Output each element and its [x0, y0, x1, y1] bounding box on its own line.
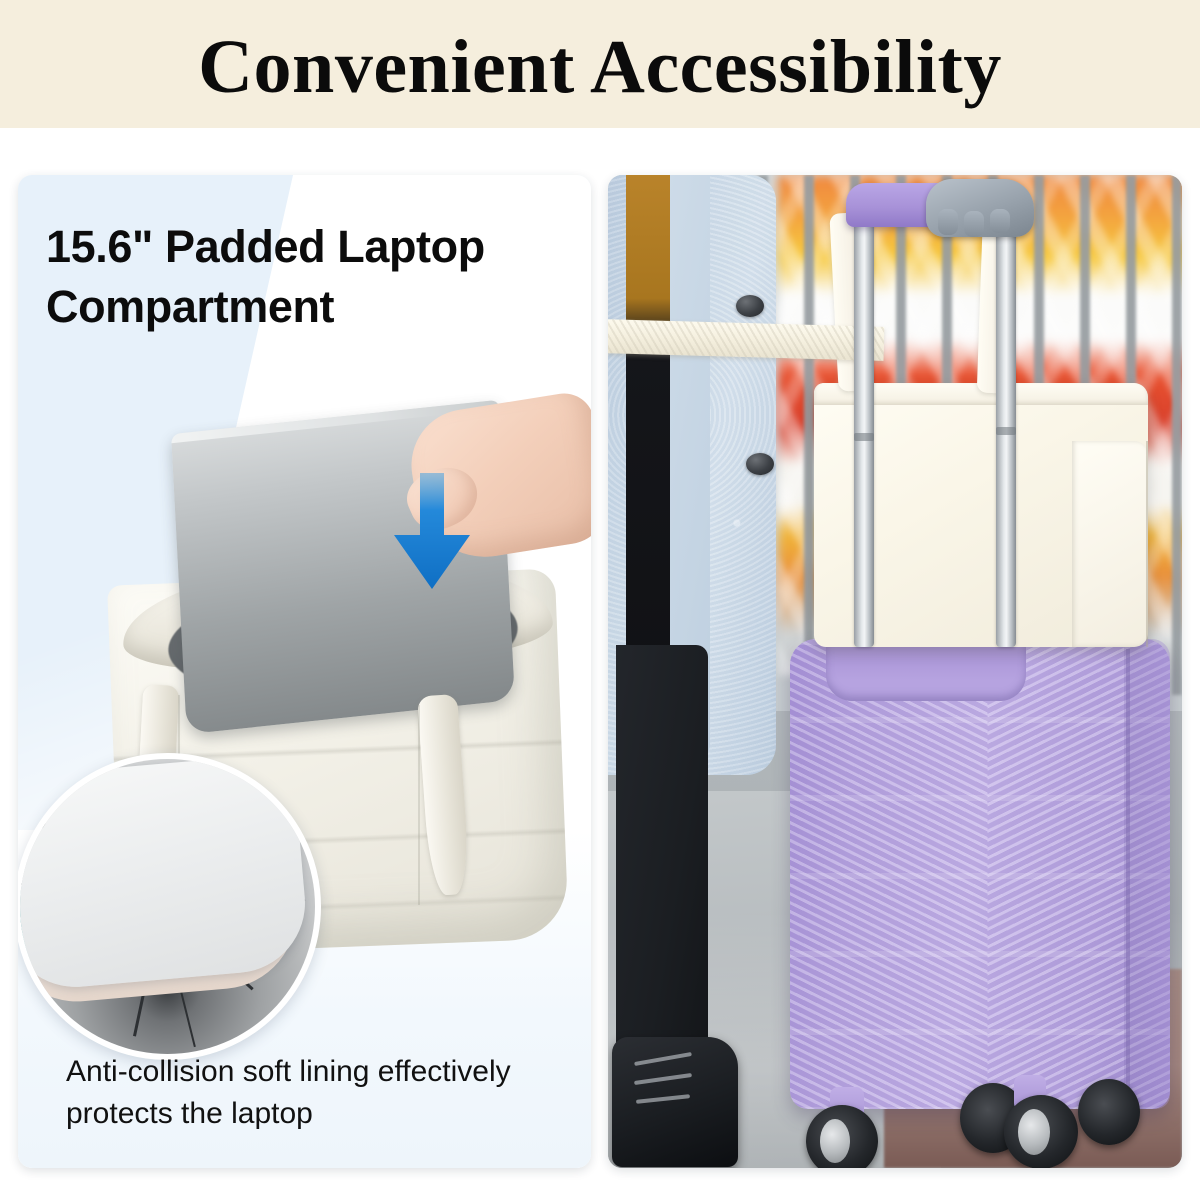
- gloved-hand: [926, 179, 1034, 237]
- tote-side-pocket-seam: [1146, 441, 1148, 647]
- street-scene-photo: [608, 175, 1182, 1168]
- suitcase-side-panel: [1124, 639, 1170, 1109]
- anti-collision-inset-photo: [18, 753, 321, 1060]
- telescoping-bar-right: [996, 203, 1016, 647]
- laptop-corner: [18, 753, 311, 993]
- telescoping-bar-left: [854, 203, 874, 647]
- tote-side-pocket: [1072, 441, 1148, 647]
- spinner-wheel-left: [806, 1105, 878, 1168]
- spinner-wheel-right: [1004, 1095, 1078, 1168]
- spinner-wheel-far-right: [1078, 1079, 1140, 1145]
- wheel-hub-right: [1018, 1109, 1050, 1155]
- coat-button-upper: [736, 295, 764, 317]
- boot: [612, 1037, 738, 1167]
- arrow-down-icon: [390, 473, 474, 591]
- trolley-sleeve-panel: [608, 175, 1182, 1168]
- page-title: Convenient Accessibility: [0, 0, 1200, 128]
- left-panel-heading: 15.6" Padded Laptop Compartment: [46, 217, 546, 337]
- suitcase-horizontal-bands: [790, 639, 1170, 1109]
- wheel-hub-left: [820, 1119, 850, 1163]
- left-panel-caption: Anti-collision soft lining effectively p…: [66, 1051, 536, 1136]
- suitcase-zipper: [1126, 649, 1130, 1091]
- hardshell-suitcase: [790, 639, 1170, 1109]
- telescoping-joint-left: [854, 433, 874, 441]
- laptop-compartment-panel: 15.6" Padded Laptop Compartment: [18, 175, 591, 1168]
- content-stage: 15.6" Padded Laptop Compartment: [0, 128, 1200, 1200]
- tote-pocket-seam-right: [418, 705, 420, 905]
- coat-button-lower: [746, 453, 774, 475]
- telescoping-joint-right: [996, 427, 1016, 435]
- header-band: Convenient Accessibility: [0, 0, 1200, 128]
